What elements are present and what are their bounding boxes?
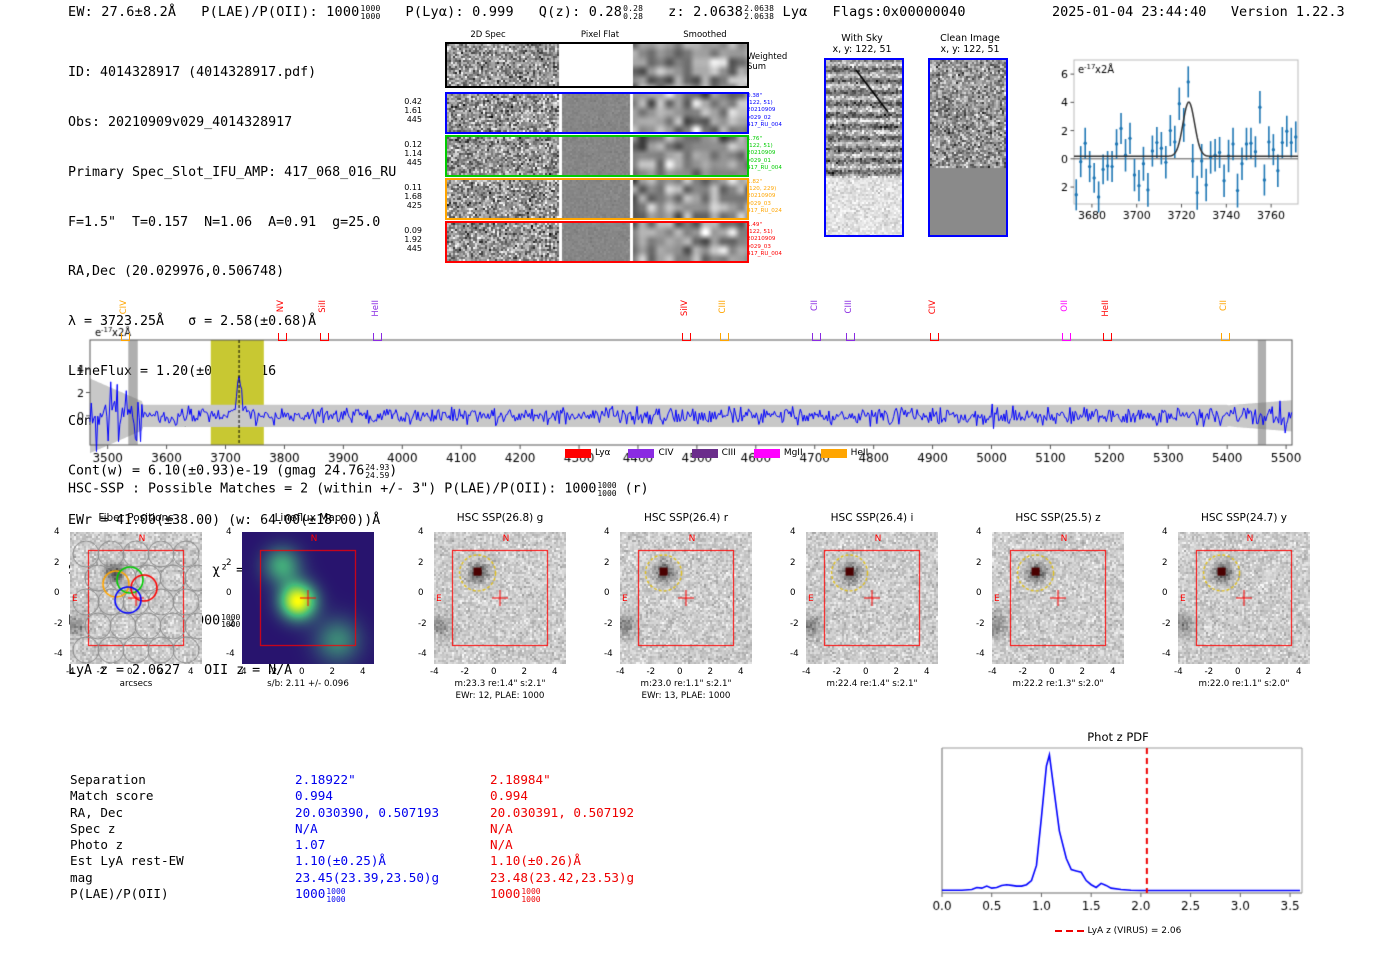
cutout-panel-1[interactable]: Fiber PositionsNE-4-4-2-2002244arcsecs — [70, 532, 202, 664]
header-qz: Q(z): 0.28 — [539, 4, 622, 20]
info-radec: RA,Dec (20.029976,0.506748) — [68, 264, 397, 281]
spec2d-row-meta-line: 20210909 — [747, 150, 782, 157]
cutout-y-tick: 2 — [418, 558, 424, 568]
match-table-value-red: 23.48(23.42,23.53)g — [490, 870, 634, 886]
match-table-label: Spec z — [70, 821, 116, 837]
cutout-image — [992, 532, 1124, 664]
spec2d-exposure-image — [445, 178, 749, 220]
spec2d-row-meta-line: (122, 51) — [747, 143, 782, 150]
spec2d-row-label: 0.121.14445 — [380, 140, 422, 167]
cutout-y-tick: 0 — [790, 588, 796, 598]
cutout-x-tick: -2 — [1205, 667, 1214, 677]
cutout-x-tick: -4 — [616, 667, 625, 677]
cutout-x-tick: 4 — [738, 667, 744, 677]
spec2d-weighted-sum-label: Weighted Sum — [747, 52, 805, 72]
phot-z-pdf-plot: Phot z PDF LyA z (VIRUS) = 2.06 — [928, 730, 1308, 945]
cutout-image — [70, 532, 202, 664]
header-plae-value: 1000 — [326, 4, 359, 20]
emission-line-label: CIII — [718, 300, 728, 313]
spec2d-row-meta: 1.76"(122, 51)20210909v029_01417_RU_004 — [747, 136, 782, 172]
compass-north-label: N — [139, 534, 146, 544]
cutout-x-tick: -2 — [269, 667, 278, 677]
compass-north-label: N — [1061, 534, 1068, 544]
header-plae-label: P(LAE)/P(OII): — [201, 4, 318, 20]
cutout-caption-primary: s/b: 2.11 +/- 0.096 — [222, 679, 394, 690]
legend-label: HeII — [851, 448, 869, 458]
cutout-x-tick: -4 — [802, 667, 811, 677]
cutout-panel-2[interactable]: Lineflux MapN-4-4-2-2002244s/b: 2.11 +/-… — [242, 532, 374, 664]
cutout-y-tick: 0 — [604, 588, 610, 598]
emission-line-tick — [1103, 333, 1112, 341]
emission-line-tick — [720, 333, 729, 341]
cutout-y-tick: -4 — [604, 649, 613, 659]
cutout-panel-title: HSC SSP(26.4) r — [620, 512, 752, 524]
cutout-x-tick: 2 — [1080, 667, 1086, 677]
cutout-x-tick: 4 — [552, 667, 558, 677]
cutout-y-tick: 2 — [54, 558, 60, 568]
with-sky-title: With Sky — [812, 33, 912, 44]
match-table-value-red: 0.994 — [490, 788, 528, 804]
clean-image-sub: x, y: 122, 51 — [915, 44, 1025, 55]
match-table-value-red: N/A — [490, 821, 513, 837]
spec2d-exposure-image — [445, 92, 749, 134]
match-table-value-blue: 20.030390, 0.507193 — [295, 805, 439, 821]
match-table-value-blue: 23.45(23.39,23.50)g — [295, 870, 439, 886]
cutout-y-tick: 0 — [226, 588, 232, 598]
cutout-x-tick: -2 — [833, 667, 842, 677]
emission-line-tick — [1062, 333, 1071, 341]
cutout-image — [806, 532, 938, 664]
cutout-y-tick: 0 — [976, 588, 982, 598]
spec2d-row-meta-line: v029_03 — [747, 201, 782, 208]
header-z: z: 2.0638 — [668, 4, 743, 20]
emission-line-tick — [320, 333, 329, 341]
compass-east-label: E — [808, 594, 814, 604]
info-params: F=1.5" T=0.157 N=1.06 A=0.91 g=25.0 — [68, 215, 397, 232]
match-table-value-blue: 1.10(±0.25)Å — [295, 853, 386, 869]
compass-north-label: N — [689, 534, 696, 544]
emission-line-label: CII — [810, 300, 820, 311]
cutout-y-tick: 4 — [54, 527, 60, 537]
spec2d-row-meta-line: 20210909 — [747, 107, 782, 114]
info-primary-spec: Primary Spec_Slot_IFU_AMP: 417_068_016_R… — [68, 165, 397, 182]
match-table-value-blue: 0.994 — [295, 788, 333, 804]
cutout-y-tick: -4 — [418, 649, 427, 659]
legend-label: CIV — [658, 448, 673, 458]
header-flags: Flags:0x00000040 — [833, 4, 966, 20]
match-table-value-blue: N/A — [295, 821, 318, 837]
cutout-x-tick: 4 — [360, 667, 366, 677]
spec2d-row-label-value: 0.12 — [380, 140, 422, 149]
emission-line-label: CII — [1219, 300, 1229, 311]
cutout-caption-primary: m:22.0 re:1.1" s:2.0" — [1158, 679, 1330, 690]
match-table-label: Photo z — [70, 837, 123, 853]
compass-east-label: E — [436, 594, 442, 604]
cutout-x-tick: 4 — [924, 667, 930, 677]
cutout-y-tick: 2 — [976, 558, 982, 568]
spec2d-row-label-value: 1.14 — [380, 149, 422, 158]
timestamp: 2025-01-04 23:44:40 — [1052, 4, 1206, 20]
cutout-y-tick: -4 — [226, 649, 235, 659]
spec2d-row-meta-line: v029_02 — [747, 115, 782, 122]
phot-z-title: Phot z PDF — [928, 730, 1308, 744]
spec2d-row-label-value: 0.42 — [380, 97, 422, 106]
spec2d-row-meta-line: 417_RU_024 — [747, 208, 782, 215]
cutout-x-tick: -4 — [988, 667, 997, 677]
cutout-y-tick: 2 — [226, 558, 232, 568]
header-plae-fraction: 10001000 — [360, 5, 380, 20]
cutout-y-tick: 4 — [604, 527, 610, 537]
cutout-caption-secondary: EWr: 12, PLAE: 1000 — [414, 691, 586, 702]
cutout-y-tick: 0 — [54, 588, 60, 598]
phot-z-legend: LyA z (VIRUS) = 2.06 — [928, 926, 1308, 937]
spec2d-row-meta-line: 1.82" — [747, 179, 782, 186]
cutout-x-tick: 0 — [677, 667, 683, 677]
emission-line-tick — [1221, 333, 1230, 341]
emission-line-label: CIII — [844, 300, 854, 313]
cutout-x-tick: -4 — [430, 667, 439, 677]
cutout-y-tick: 4 — [1162, 527, 1168, 537]
header-z-fraction: 2.06382.0638 — [744, 5, 774, 20]
legend-swatch — [565, 449, 591, 458]
cutout-x-tick: 0 — [491, 667, 497, 677]
cutout-x-tick: -4 — [238, 667, 247, 677]
cutout-panel-title: HSC SSP(24.7) y — [1178, 512, 1310, 524]
compass-north-label: N — [503, 534, 510, 544]
spec2d-row-meta-line: 1.76" — [747, 136, 782, 143]
spec2d-row-label-value: 1.92 — [380, 235, 422, 244]
cutout-y-tick: -2 — [790, 619, 799, 629]
cutout-panel-title: HSC SSP(26.8) g — [434, 512, 566, 524]
emission-line-tick — [278, 333, 287, 341]
cutout-image — [620, 532, 752, 664]
cutout-y-tick: -4 — [1162, 649, 1171, 659]
header-summary-line: EW: 27.6±8.2Å P(LAE)/P(OII): 10001000100… — [68, 4, 966, 20]
clean-image-title: Clean Image — [915, 33, 1025, 44]
info-obs: Obs: 20210909v029_4014328917 — [68, 115, 397, 132]
cutout-y-tick: 4 — [226, 527, 232, 537]
compass-north-label: N — [875, 534, 882, 544]
compass-east-label: E — [72, 594, 78, 604]
spec2d-exposure-image — [445, 135, 749, 177]
cutout-panel-title: Fiber Positions — [70, 512, 202, 524]
spec2d-row-meta-line: 0.38" — [747, 93, 782, 100]
spec2d-row-label-value: 1.68 — [380, 192, 422, 201]
cutout-x-tick: 2 — [522, 667, 528, 677]
spec2d-row-label-value: 445 — [380, 115, 422, 124]
cutout-panel-title: Lineflux Map — [242, 512, 374, 524]
legend-swatch — [754, 449, 780, 458]
cutout-x-tick: 0 — [299, 667, 305, 677]
cutout-y-tick: -4 — [54, 649, 63, 659]
match-table-label: mag — [70, 870, 93, 886]
emission-line-tick — [930, 333, 939, 341]
legend-label: CIII — [722, 448, 736, 458]
spec2d-exposure-image — [445, 221, 749, 263]
phot-z-legend-label: LyA z (VIRUS) = 2.06 — [1088, 926, 1182, 936]
match-table-label: RA, Dec — [70, 805, 123, 821]
cutout-y-tick: -2 — [226, 619, 235, 629]
spec2d-row-label-value: 0.09 — [380, 226, 422, 235]
cutout-x-tick: 4 — [188, 667, 194, 677]
cutout-x-tick: 4 — [1296, 667, 1302, 677]
cutout-x-tick: 2 — [1266, 667, 1272, 677]
legend-label: Lyα — [595, 448, 610, 458]
cutout-y-tick: 4 — [790, 527, 796, 537]
cutout-x-tick: 0 — [127, 667, 133, 677]
header-qz-fraction: 0.280.28 — [623, 5, 643, 20]
emission-line-label: OII — [1060, 300, 1070, 312]
emission-line-tick — [682, 333, 691, 341]
cutout-caption-primary: m:22.2 re:1.3" s:2.0" — [972, 679, 1144, 690]
spec2d-row-label-value: 425 — [380, 201, 422, 210]
cutout-panel-3[interactable]: HSC SSP(26.8) gNE-4-4-2-2002244m:23.3 re… — [434, 532, 566, 664]
spec2d-row-label-value: 445 — [380, 158, 422, 167]
cutout-image — [1178, 532, 1310, 664]
cutout-caption-secondary: EWr: 13, PLAE: 1000 — [600, 691, 772, 702]
info-id: ID: 4014328917 (4014328917.pdf) — [68, 65, 397, 82]
cutout-panel-6[interactable]: HSC SSP(25.5) zNE-4-4-2-2002244m:22.2 re… — [992, 532, 1124, 664]
cutout-x-tick: 2 — [708, 667, 714, 677]
cutout-panel-7[interactable]: HSC SSP(24.7) yNE-4-4-2-2002244m:22.0 re… — [1178, 532, 1310, 664]
dashed-line-icon — [1055, 927, 1085, 935]
cutout-y-tick: 2 — [604, 558, 610, 568]
match-table-label: Est LyA rest-EW — [70, 853, 184, 869]
emission-line-label: SiIV — [680, 300, 690, 316]
version: Version 1.22.3 — [1231, 4, 1345, 20]
spectrum-legend: LyαCIVCIIIMgIIHeII — [565, 448, 886, 459]
emission-line-tick — [846, 333, 855, 341]
emission-line-tick — [373, 333, 382, 341]
compass-north-label: N — [1247, 534, 1254, 544]
cutout-y-tick: -4 — [790, 649, 799, 659]
cutout-y-tick: 4 — [418, 527, 424, 537]
spec2d-row-label-value: 1.61 — [380, 106, 422, 115]
cutout-y-tick: -2 — [976, 619, 985, 629]
hsc-plae-fraction: 10001000 — [597, 482, 616, 497]
spec2d-col-title-pixelflat: Pixel Flat — [555, 30, 645, 40]
cutout-y-tick: 2 — [790, 558, 796, 568]
spec2d-row-meta-line: v029_03 — [747, 244, 782, 251]
spec2d-row-meta-line: 20210909 — [747, 193, 782, 200]
cutout-y-tick: -2 — [418, 619, 427, 629]
cutout-caption-primary: m:22.4 re:1.4" s:2.1" — [786, 679, 958, 690]
with-sky-sub: x, y: 122, 51 — [812, 44, 912, 55]
match-table-value-blue: 2.18922" — [295, 772, 356, 788]
cutout-x-tick: -2 — [1019, 667, 1028, 677]
cutout-y-tick: -2 — [54, 619, 63, 629]
match-table-value-red: 20.030391, 0.507192 — [490, 805, 634, 821]
spec2d-col-title-smoothed: Smoothed — [660, 30, 750, 40]
spec2d-row-label-value: 445 — [380, 244, 422, 253]
compass-east-label: E — [1180, 594, 1186, 604]
cutout-y-tick: 2 — [1162, 558, 1168, 568]
spec2d-row-meta-line: 417_RU_004 — [747, 251, 782, 258]
cutout-y-tick: 0 — [418, 588, 424, 598]
match-table-value-blue: 1.07 — [295, 837, 325, 853]
legend-swatch — [821, 449, 847, 458]
match-table-value-red: 1.10(±0.26)Å — [490, 853, 581, 869]
line-fit-plot — [1040, 52, 1302, 230]
emission-line-tick — [812, 333, 821, 341]
cutout-image — [434, 532, 566, 664]
match-table-label: Match score — [70, 788, 153, 804]
cutout-y-tick: -2 — [1162, 619, 1171, 629]
spec2d-row-meta-line: 1.49" — [747, 222, 782, 229]
spec2d-row-meta: 0.38"(122, 51)20210909v029_02417_RU_004 — [747, 93, 782, 129]
cutout-x-tick: -2 — [461, 667, 470, 677]
emission-line-label: NV — [276, 300, 286, 312]
cutout-x-tick: 0 — [1235, 667, 1241, 677]
cutout-x-tick: -4 — [1174, 667, 1183, 677]
cutout-caption-primary: m:23.0 re:1.1" s:2.1" — [600, 679, 772, 690]
cutout-x-tick: 2 — [894, 667, 900, 677]
cutout-x-tick: 0 — [1049, 667, 1055, 677]
spec2d-col-title-2dspec: 2D Spec — [443, 30, 533, 40]
spec2d-row-meta-line: v029_01 — [747, 158, 782, 165]
hsc-summary-text: HSC-SSP : Possible Matches = 2 (within +… — [68, 482, 596, 497]
cutout-x-tick: 2 — [330, 667, 336, 677]
match-table-value-red: 100010001000 — [490, 886, 541, 902]
emission-line-label: CIV — [928, 300, 938, 314]
cutout-y-tick: 4 — [976, 527, 982, 537]
header-ew: EW: 27.6±8.2Å — [68, 4, 176, 20]
hsc-summary-filter: (r) — [625, 482, 649, 497]
match-table-label: P(LAE)/P(OII) — [70, 886, 169, 902]
cutout-panel-title: HSC SSP(26.4) i — [806, 512, 938, 524]
cutout-x-tick: -4 — [66, 667, 75, 677]
legend-swatch — [692, 449, 718, 458]
cutout-panel-title: HSC SSP(25.5) z — [992, 512, 1124, 524]
match-table-value-blue: 100010001000 — [295, 886, 346, 902]
emission-line-label: CIV — [119, 300, 129, 314]
compass-east-label: E — [622, 594, 628, 604]
emission-line-label: HeII — [1101, 300, 1111, 317]
spec2d-row-meta-line: (120, 229) — [747, 186, 782, 193]
spec2d-row-meta-line: 20210909 — [747, 236, 782, 243]
spec2d-row-label: 0.091.92445 — [380, 226, 422, 253]
cutout-image — [242, 532, 374, 664]
emission-line-label: SiII — [318, 300, 328, 313]
spec2d-row-label-value: 0.11 — [380, 183, 422, 192]
cutout-caption-primary: arcsecs — [50, 679, 222, 690]
spec2d-block: 2D Spec Pixel Flat Smoothed Weighted Sum… — [425, 30, 805, 255]
info-redshift: LyA z = 2.0627 OII z = N/A — [68, 663, 397, 680]
match-table-value-red: N/A — [490, 837, 513, 853]
cutout-x-tick: 0 — [863, 667, 869, 677]
spec2d-row-meta: 1.82"(120, 229)20210909v029_03417_RU_024 — [747, 179, 782, 215]
spec2d-row-meta-line: (122, 51) — [747, 100, 782, 107]
cutout-panel-4[interactable]: HSC SSP(26.4) rNE-4-4-2-2002244m:23.0 re… — [620, 532, 752, 664]
legend-label: MgII — [784, 448, 803, 458]
spec2d-row-meta: 1.49"(122, 51)20210909v029_03417_RU_004 — [747, 222, 782, 258]
compass-east-label: E — [994, 594, 1000, 604]
cutout-x-tick: 4 — [1110, 667, 1116, 677]
spec2d-row-meta-line: 417_RU_004 — [747, 165, 782, 172]
compass-north-label: N — [311, 534, 318, 544]
cutout-y-tick: -2 — [604, 619, 613, 629]
spec2d-row-label: 0.111.68425 — [380, 183, 422, 210]
header-plya: P(Lyα): 0.999 — [406, 4, 514, 20]
match-table-label: Separation — [70, 772, 146, 788]
cutout-x-tick: 2 — [158, 667, 164, 677]
cutout-y-tick: -4 — [976, 649, 985, 659]
cutout-y-tick: 0 — [1162, 588, 1168, 598]
header-timestamp-version: 2025-01-04 23:44:40 Version 1.22.3 — [1052, 4, 1345, 20]
spec2d-row-label: 0.421.61445 — [380, 97, 422, 124]
emission-line-label: HeII — [371, 300, 381, 317]
spec2d-row-meta-line: (122, 51) — [747, 229, 782, 236]
legend-swatch — [628, 449, 654, 458]
cutout-x-tick: -2 — [97, 667, 106, 677]
hsc-summary-line: HSC-SSP : Possible Matches = 2 (within +… — [68, 481, 649, 497]
emission-line-tick — [121, 333, 130, 341]
spec2d-row-meta-line: 417_RU_004 — [747, 122, 782, 129]
cutout-x-tick: -2 — [647, 667, 656, 677]
cutout-caption-primary: m:23.3 re:1.4" s:2.1" — [414, 679, 586, 690]
header-z-line: Lyα — [783, 4, 808, 20]
match-table-value-red: 2.18984" — [490, 772, 551, 788]
cutout-panel-5[interactable]: HSC SSP(26.4) iNE-4-4-2-2002244m:22.4 re… — [806, 532, 938, 664]
